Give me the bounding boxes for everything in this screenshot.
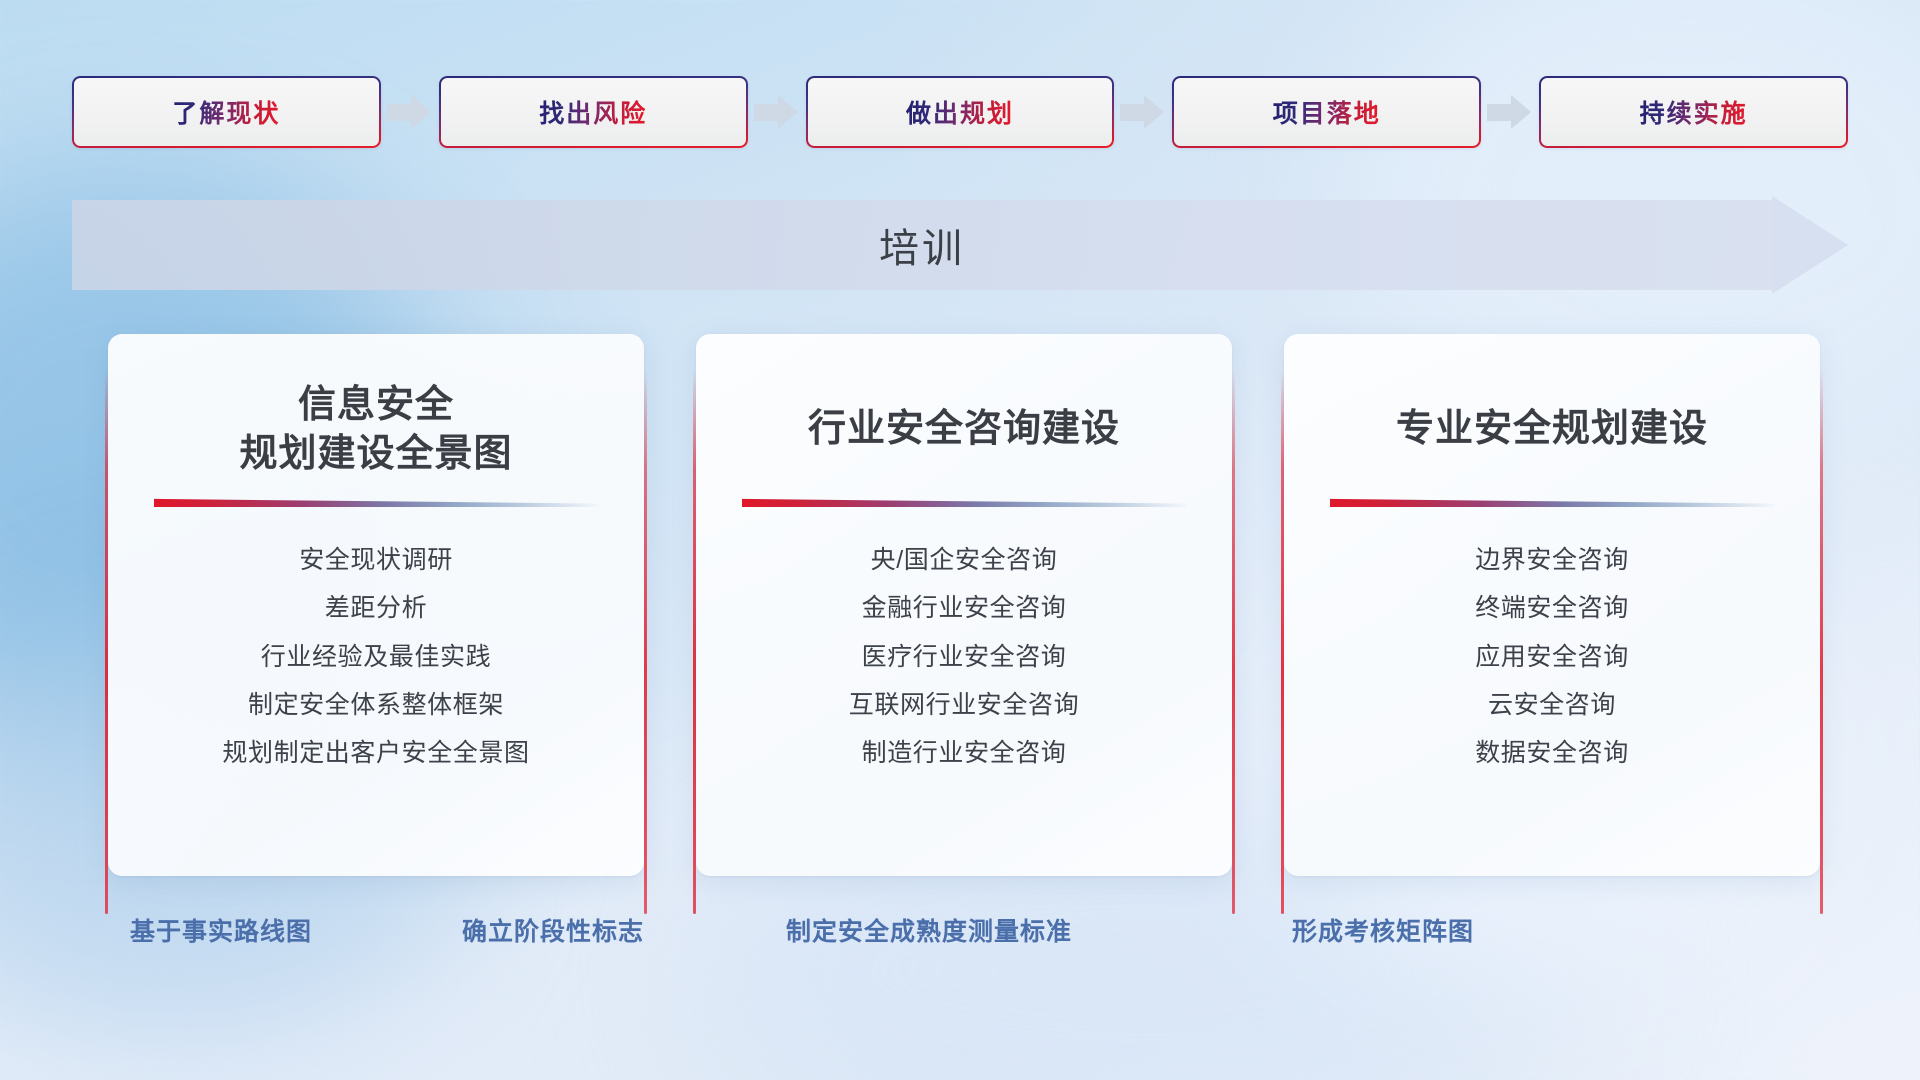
list-item: 终端安全咨询 xyxy=(1284,584,1820,632)
card-title: 行业安全咨询建设 xyxy=(696,380,1232,480)
card-item-list: 安全现状调研 差距分析 行业经验及最佳实践 制定安全体系整体框架 规划制定出客户… xyxy=(108,536,644,777)
card-title-line: 规划建设全景图 xyxy=(126,430,626,479)
list-item: 互联网行业安全咨询 xyxy=(696,681,1232,729)
arrow-right-icon xyxy=(748,93,806,131)
card-row: 信息安全 规划建设全景图 安全现状调研 差距分析 行业经验及最佳实践 制定安全体… xyxy=(108,334,1820,876)
process-step-label: 找出风险 xyxy=(539,94,647,130)
card-0[interactable]: 信息安全 规划建设全景图 安全现状调研 差距分析 行业经验及最佳实践 制定安全体… xyxy=(108,334,644,876)
card-divider xyxy=(154,498,599,510)
list-item: 边界安全咨询 xyxy=(1284,536,1820,584)
process-step-3[interactable]: 项目落地 xyxy=(1172,76,1481,148)
process-step-0[interactable]: 了解现状 xyxy=(72,76,381,148)
list-item: 央/国企安全咨询 xyxy=(696,536,1232,584)
list-item: 行业经验及最佳实践 xyxy=(108,633,644,681)
card-title-line: 行业安全咨询建设 xyxy=(714,405,1214,454)
list-item: 规划制定出客户安全全景图 xyxy=(108,729,644,777)
card-title-line: 专业安全规划建设 xyxy=(1302,405,1802,454)
process-step-label: 持续实施 xyxy=(1640,94,1748,130)
card-title-line: 信息安全 xyxy=(126,381,626,430)
card-divider xyxy=(742,498,1187,510)
process-step-4[interactable]: 持续实施 xyxy=(1539,76,1848,148)
list-item: 安全现状调研 xyxy=(108,536,644,584)
process-step-label: 做出规划 xyxy=(906,94,1014,130)
list-item: 制定安全体系整体框架 xyxy=(108,681,644,729)
card-title: 信息安全 规划建设全景图 xyxy=(108,380,644,480)
list-item: 制造行业安全咨询 xyxy=(696,729,1232,777)
caption-2: 制定安全成熟度测量标准 xyxy=(786,912,1072,948)
caption-1: 确立阶段性标志 xyxy=(462,912,644,948)
card-divider xyxy=(1330,498,1775,510)
list-item: 差距分析 xyxy=(108,584,644,632)
banner-label: 培训 xyxy=(72,200,1772,290)
card-item-list: 边界安全咨询 终端安全咨询 应用安全咨询 云安全咨询 数据安全咨询 xyxy=(1284,536,1820,777)
banner-arrow-tip-icon xyxy=(1772,196,1848,294)
card-title: 专业安全规划建设 xyxy=(1284,380,1820,480)
caption-3: 形成考核矩阵图 xyxy=(1292,912,1474,948)
list-item: 应用安全咨询 xyxy=(1284,633,1820,681)
card-item-list: 央/国企安全咨询 金融行业安全咨询 医疗行业安全咨询 互联网行业安全咨询 制造行… xyxy=(696,536,1232,777)
list-item: 医疗行业安全咨询 xyxy=(696,633,1232,681)
list-item: 金融行业安全咨询 xyxy=(696,584,1232,632)
process-step-row: 了解现状 找出风险 做出规划 项目落地 持续实施 xyxy=(72,76,1848,148)
process-step-label: 了解现状 xyxy=(172,94,280,130)
process-step-1[interactable]: 找出风险 xyxy=(439,76,748,148)
list-item: 云安全咨询 xyxy=(1284,681,1820,729)
card-1[interactable]: 行业安全咨询建设 央/国企安全咨询 金融行业安全咨询 医疗行业安全咨询 互联网行… xyxy=(696,334,1232,876)
caption-row: 基于事实路线图 确立阶段性标志 制定安全成熟度测量标准 形成考核矩阵图 xyxy=(0,912,1920,960)
card-2[interactable]: 专业安全规划建设 边界安全咨询 终端安全咨询 应用安全咨询 云安全咨询 数据安全… xyxy=(1284,334,1820,876)
arrow-right-icon xyxy=(1114,93,1172,131)
training-banner: 培训 xyxy=(72,200,1848,290)
list-item: 数据安全咨询 xyxy=(1284,729,1820,777)
process-step-2[interactable]: 做出规划 xyxy=(806,76,1115,148)
arrow-right-icon xyxy=(1481,93,1539,131)
arrow-right-icon xyxy=(381,93,439,131)
caption-0: 基于事实路线图 xyxy=(130,912,312,948)
process-step-label: 项目落地 xyxy=(1273,94,1381,130)
